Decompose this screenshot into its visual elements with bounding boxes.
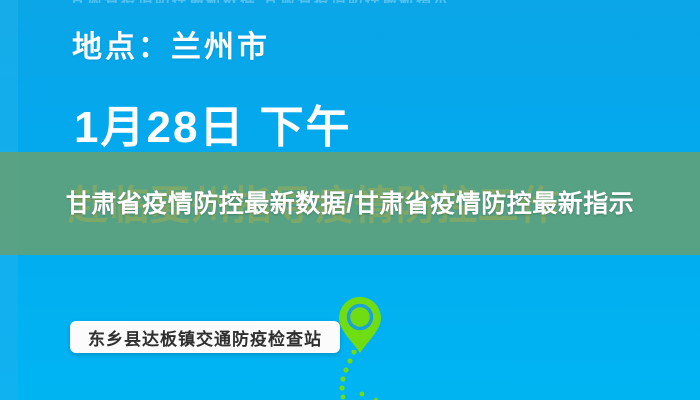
screenshot-root: 甘肃省疫情防控最新数据 甘肃省疫情防控最新指示 地点：兰州市 1月28日 下午 … [0,0,700,400]
clipped-top-text-row: 甘肃省疫情防控最新数据 甘肃省疫情防控最新指示 [70,0,630,3]
banner-title: 甘肃省疫情防控最新数据/甘肃省疫情防控最新指示 [66,188,634,220]
headline-date: 1月28日 下午 [74,106,352,150]
dotted-route-icon [330,350,410,400]
location-pill-label: 东乡县达板镇交通防疫检查站 [88,325,322,350]
location-pill: 东乡县达板镇交通防疫检查站 [70,321,340,353]
place-label: 地点：兰州市 [72,22,270,66]
map-pin-icon [338,296,382,354]
overlay-banner: 甘肃省疫情防控最新数据/甘肃省疫情防控最新指示 [0,152,700,255]
